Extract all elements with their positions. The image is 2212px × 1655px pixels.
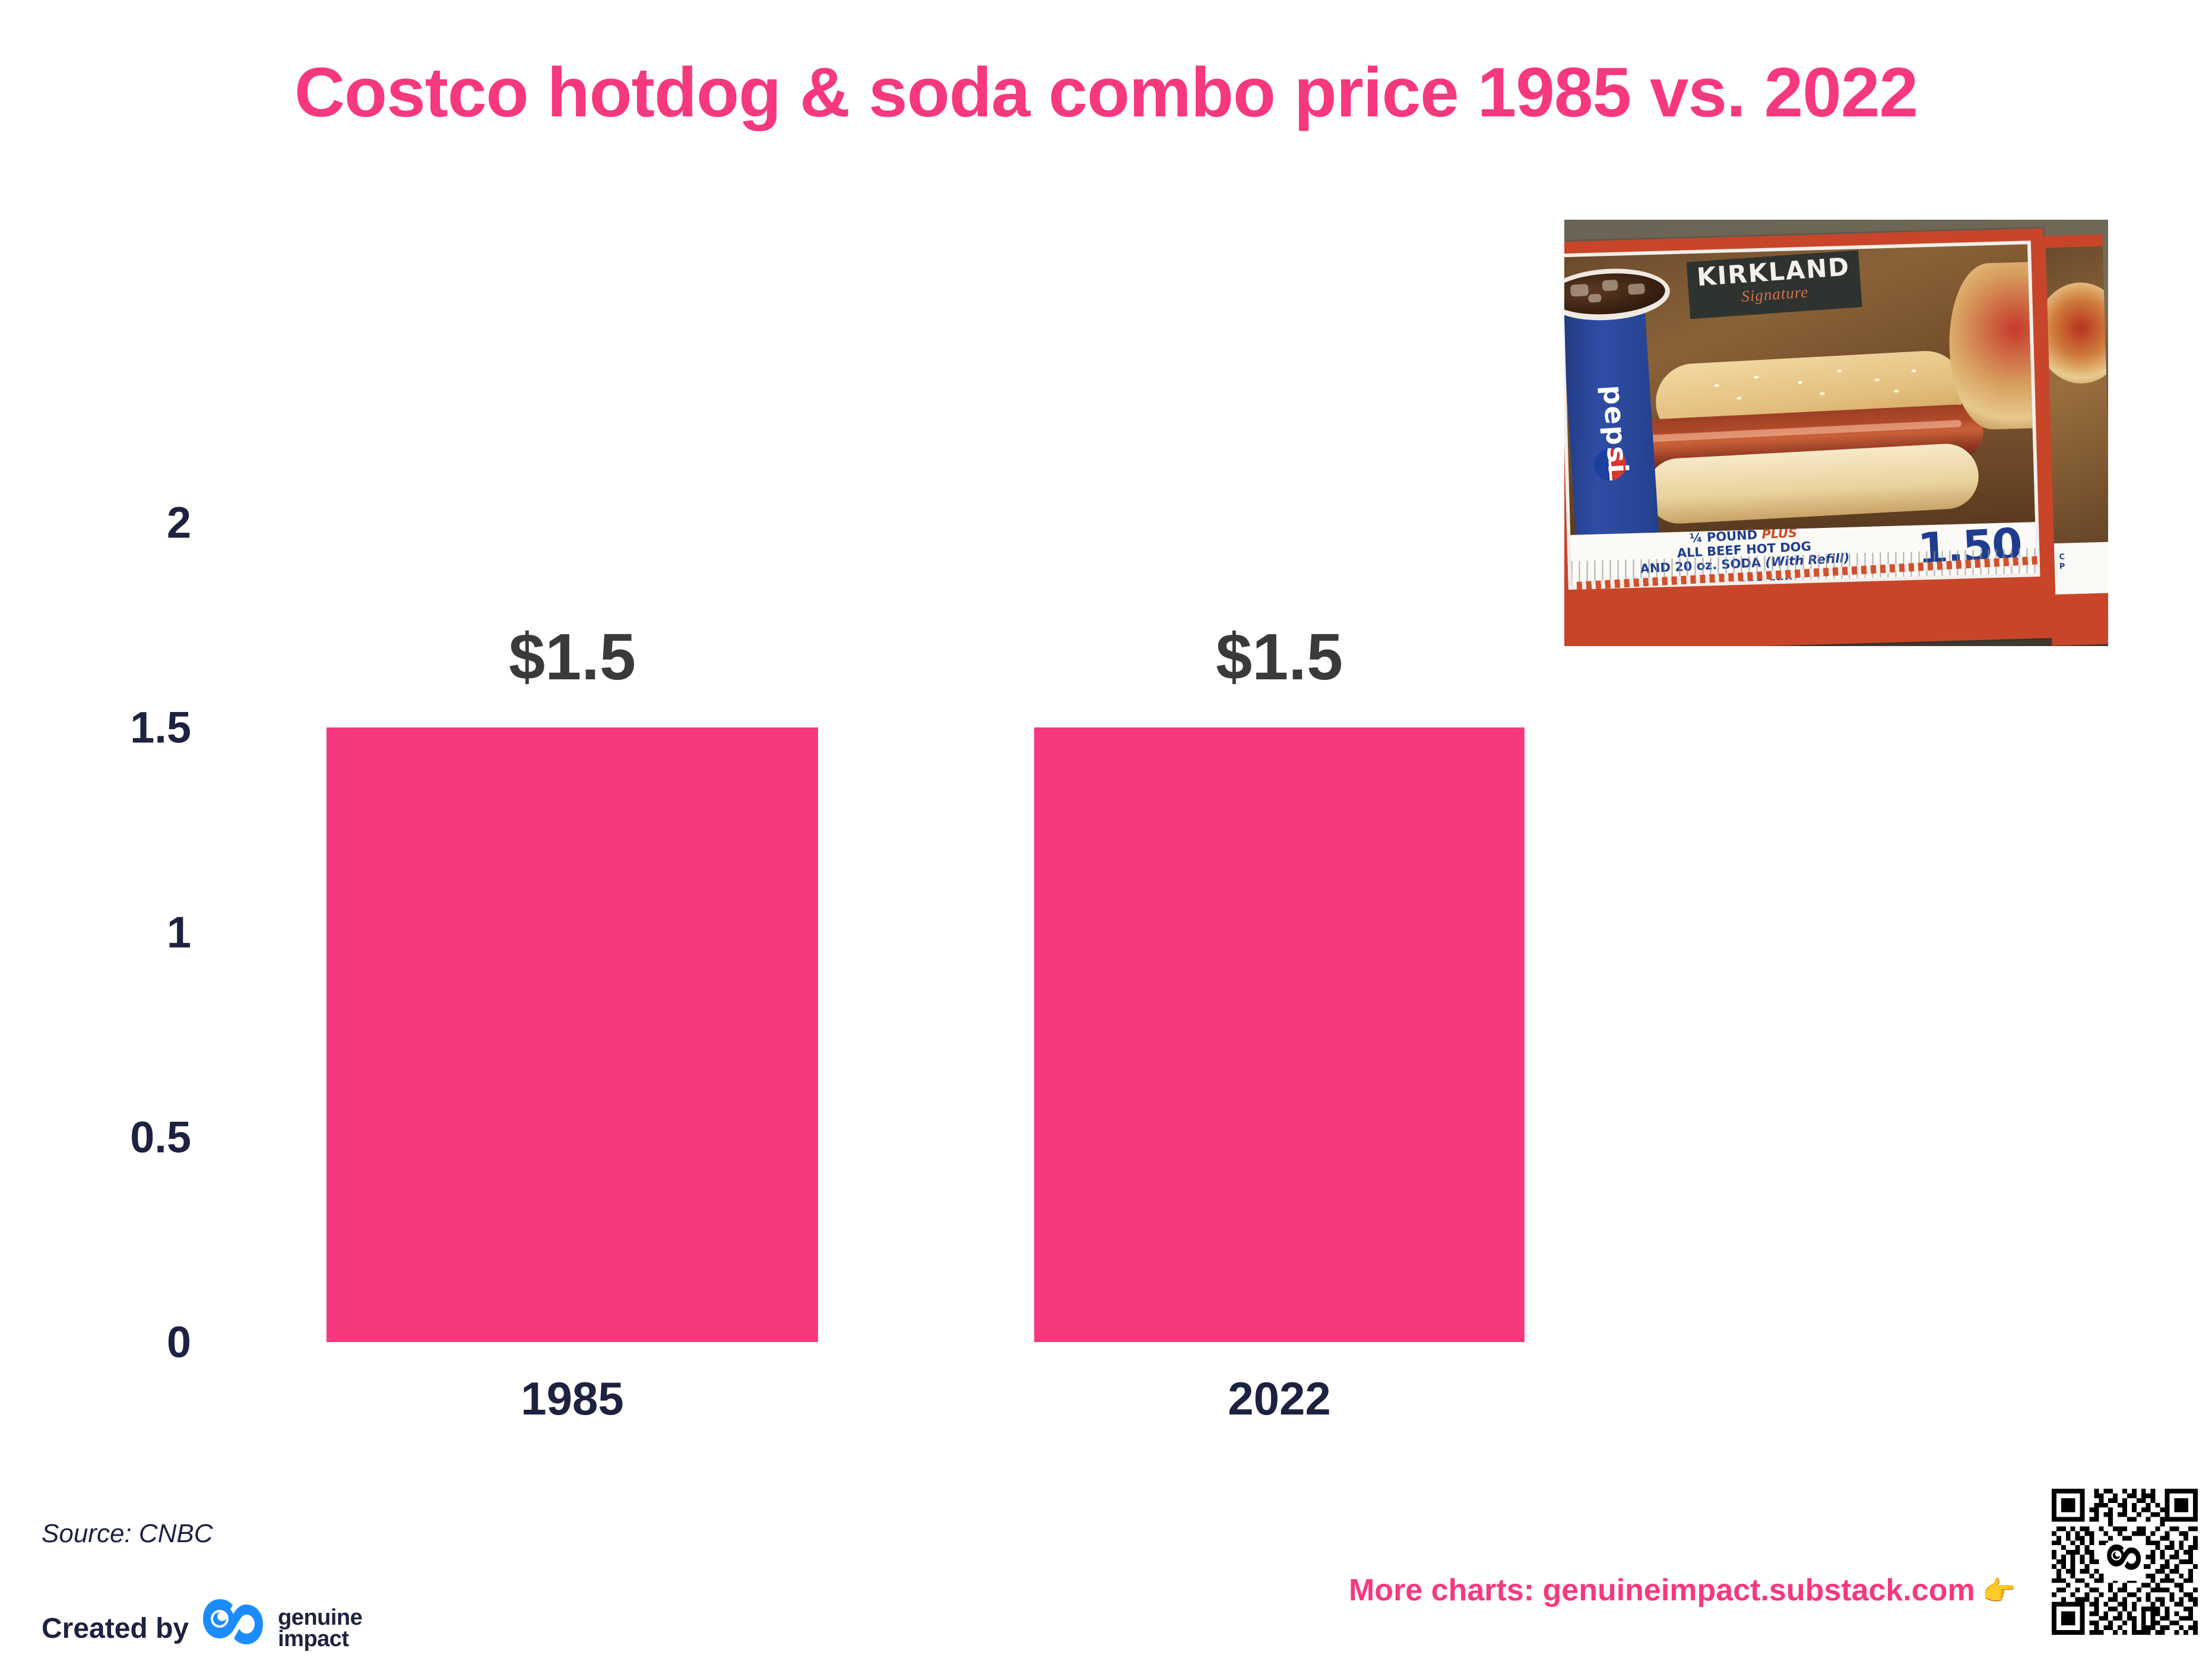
x-tick-2022: 2022 (1034, 1372, 1525, 1426)
costco-sign-photo: pepsi KIRKLAND Signature ¼ POUND PLUS AL… (1564, 220, 2108, 646)
genuine-impact-logo: genuine impact (202, 1597, 362, 1655)
photo-ice-cube (1588, 293, 1602, 302)
y-tick-0-5: 0.5 (130, 1112, 191, 1163)
page-title: Costco hotdog & soda combo price 1985 vs… (0, 56, 2212, 130)
photo-pepsi-wordmark: pepsi (1595, 352, 1636, 508)
plot-area: 2 1.5 1 0.5 0 $1.5 1985 $1.5 2022 (214, 523, 1555, 1342)
photo-right-price-strip: CP (2054, 542, 2108, 594)
more-charts-link[interactable]: More charts: genuineimpact.substack.com👉 (1349, 1572, 2016, 1608)
photo-ice-cube (1628, 283, 1645, 295)
logo-word-impact: impact (278, 1626, 348, 1651)
genuine-impact-wordmark: genuine impact (278, 1607, 362, 1650)
pointing-right-icon: 👉 (1982, 1575, 2016, 1606)
photo-right-sign-inner (2046, 246, 2108, 584)
y-tick-1-5: 1.5 (130, 702, 191, 753)
qr-code[interactable] (2047, 1482, 2203, 1641)
photo-ice-cube (1570, 284, 1589, 297)
source-note: Source: CNBC (42, 1519, 213, 1549)
photo-ice-cube (1602, 280, 1618, 292)
x-tick-1985: 1985 (327, 1372, 818, 1426)
created-by-label: Created by (42, 1612, 189, 1645)
photo-sign-inner: pepsi KIRKLAND Signature ¼ POUND PLUS AL… (1564, 241, 2040, 590)
bar-2022[interactable] (1034, 727, 1525, 1342)
y-tick-1: 1 (167, 907, 191, 958)
photo-pepsi-cup: pepsi (1564, 287, 1659, 535)
chart-canvas: Costco hotdog & soda combo price 1985 vs… (0, 0, 2212, 1655)
y-tick-0: 0 (167, 1317, 191, 1368)
photo-kirkland-logo: KIRKLAND Signature (1687, 250, 1862, 319)
bar-1985[interactable] (327, 727, 818, 1342)
y-tick-2: 2 (167, 498, 191, 548)
more-charts-text: More charts: genuineimpact.substack.com (1349, 1573, 1975, 1607)
photo-right-strip-text: CP (2059, 553, 2065, 571)
bar-value-2022: $1.5 (1034, 619, 1525, 695)
photo-sign-frame: pepsi KIRKLAND Signature ¼ POUND PLUS AL… (1564, 229, 2054, 646)
photo-right-pizza (2046, 281, 2108, 385)
photo-sausage-highlight (1644, 420, 1961, 442)
bar-value-1985: $1.5 (327, 619, 818, 695)
photo-food-image: pepsi KIRKLAND Signature (1564, 244, 2035, 535)
alpha-eye-icon (202, 1597, 268, 1655)
photo-right-sign-panel: CP (2040, 235, 2108, 646)
created-by-block: Created by genuine impact (42, 1597, 362, 1655)
bar-group-1985: $1.5 1985 (327, 523, 818, 1342)
bar-group-2022: $1.5 2022 (1034, 523, 1525, 1342)
